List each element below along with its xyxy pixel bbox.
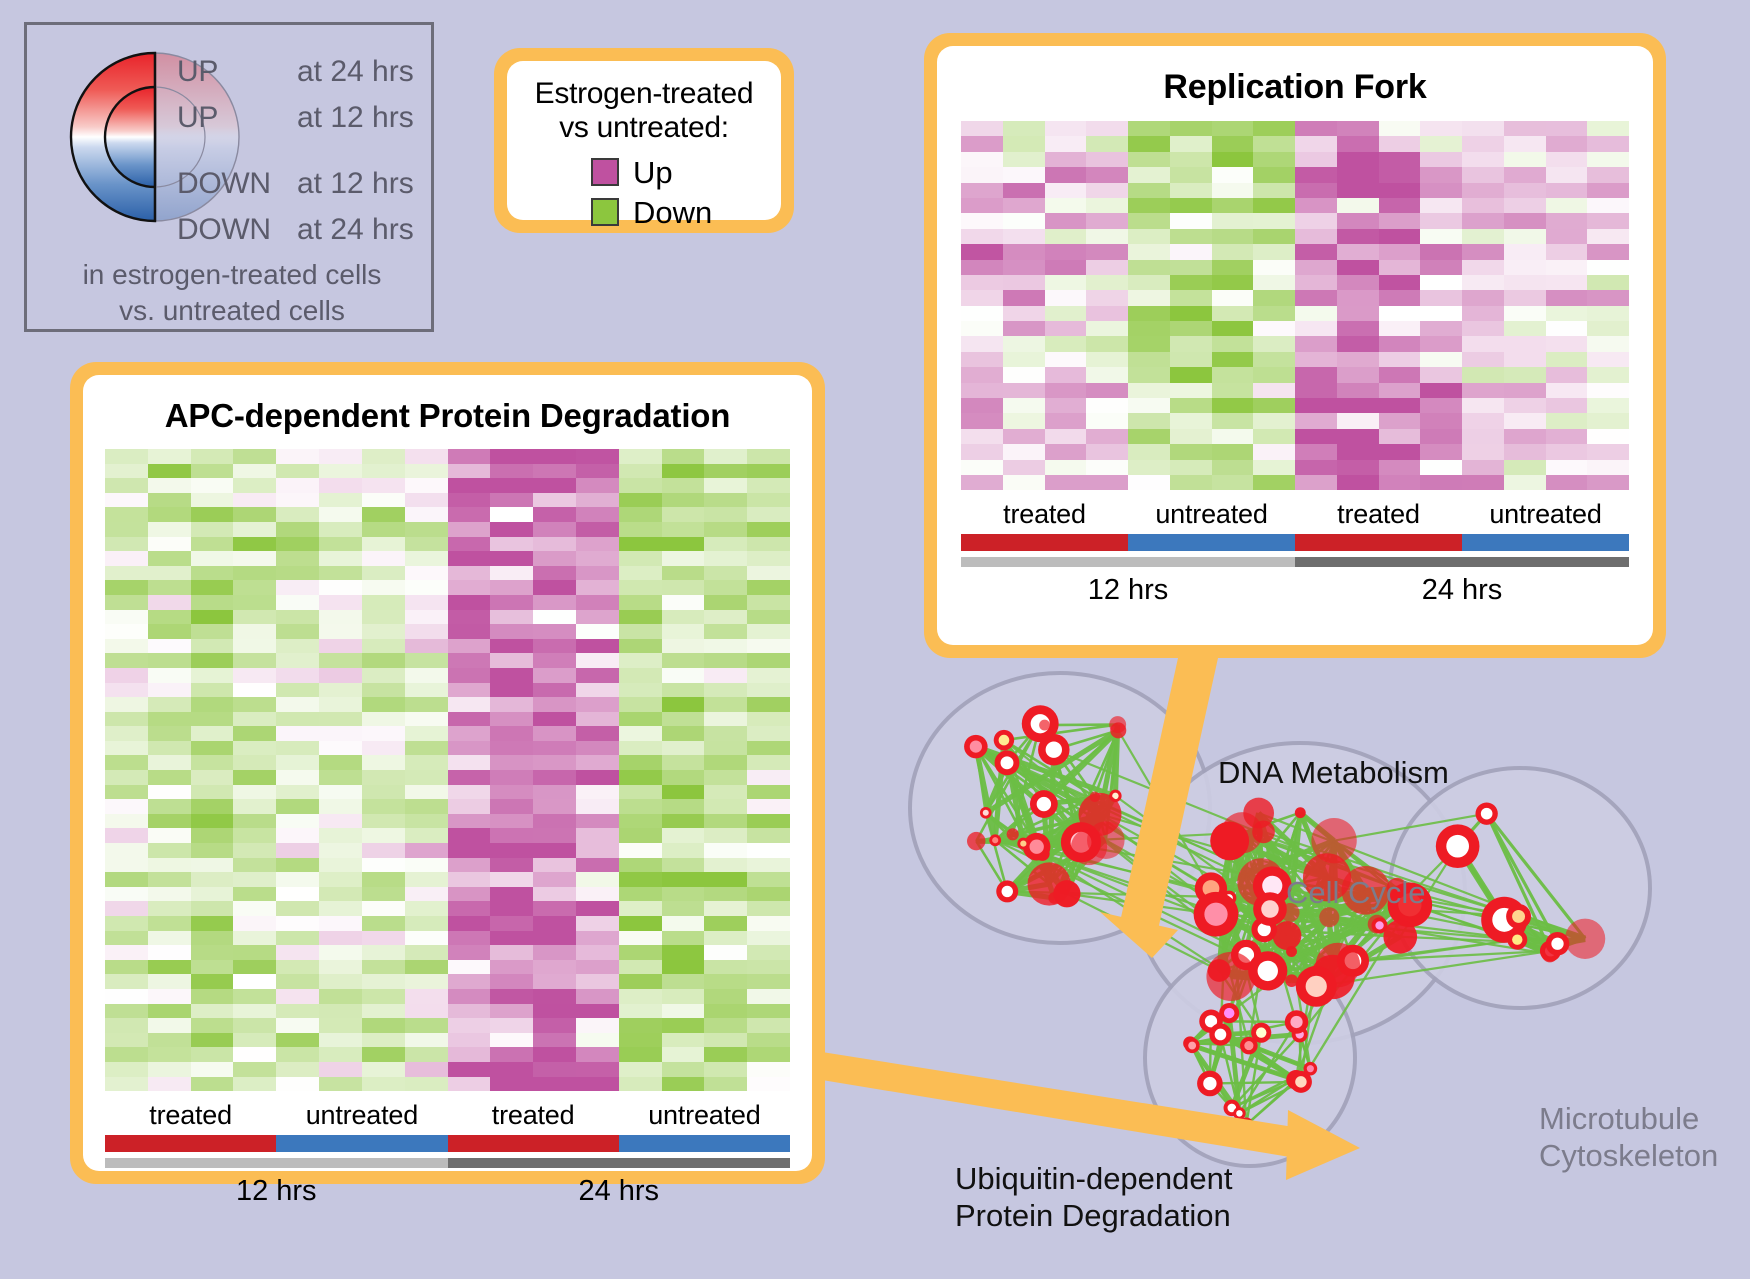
heatmap-cell (1379, 260, 1421, 275)
heatmap-cell (619, 580, 662, 595)
heatmap-cell (191, 624, 234, 639)
heatmap-cell (362, 464, 405, 479)
heatmap-cell (1003, 275, 1045, 290)
heatmap-cell (704, 507, 747, 522)
heatmap-cell (1587, 352, 1629, 367)
heatmap-cell (747, 741, 790, 756)
heatmap-cell (533, 974, 576, 989)
network-node (1206, 952, 1255, 1001)
heatmap-cell (1379, 367, 1421, 382)
heatmap-cell (747, 610, 790, 625)
heatmap-cell (662, 595, 705, 610)
heatmap-cell (1337, 306, 1379, 321)
colorwheel-rows: UP at 24 hrs UP at 12 hrs DOWN at 12 hrs… (177, 55, 437, 259)
heatmap-cell (1462, 260, 1504, 275)
heatmap-cell (276, 843, 319, 858)
heatmap-cell (1546, 398, 1588, 413)
heatmap-cell (405, 580, 448, 595)
heatmap-cell (1379, 198, 1421, 213)
heatmap-cell (448, 522, 491, 537)
heatmap-cell (576, 974, 619, 989)
heatmap-cell (233, 858, 276, 873)
heatmap-cell (747, 1077, 790, 1092)
heatmap-cell (191, 537, 234, 552)
heatmap-cell (448, 449, 491, 464)
heatmap-cell (1546, 167, 1588, 182)
heatmap-cell (576, 814, 619, 829)
heatmap-cell (405, 1018, 448, 1033)
heatmap-cell (1504, 229, 1546, 244)
heatmap-cell (276, 974, 319, 989)
heatmap-cell (1504, 321, 1546, 336)
heatmap-cell (704, 960, 747, 975)
heatmap-cell (619, 551, 662, 566)
heatmap-cell (448, 916, 491, 931)
heatmap-cell (1295, 367, 1337, 382)
heatmap-cell (405, 639, 448, 654)
heatmap-cell (1379, 244, 1421, 259)
heatmap-cell (405, 610, 448, 625)
heatmap-cell (319, 843, 362, 858)
heatmap-cell (1253, 260, 1295, 275)
heatmap-cell (362, 989, 405, 1004)
heatmap-cell (1045, 198, 1087, 213)
heatmap-cell (747, 785, 790, 800)
heatmap-cell (961, 367, 1003, 382)
heatmap-cell (576, 916, 619, 931)
heatmap-cell (576, 1018, 619, 1033)
heatmap-cell (233, 726, 276, 741)
axis-group-label: untreated (619, 1100, 790, 1131)
heatmap-cell (1170, 429, 1212, 444)
heatmap-cell (105, 712, 148, 727)
heatmap-cell (276, 449, 319, 464)
heatmap-cell (1462, 367, 1504, 382)
heatmap-cell (1379, 475, 1421, 490)
heatmap-cell (1420, 136, 1462, 151)
heatmap-cell (619, 785, 662, 800)
heatmap-cell (191, 507, 234, 522)
heatmap-cell (747, 551, 790, 566)
heatmap-cell (619, 872, 662, 887)
heatmap-cell (276, 478, 319, 493)
heatmap-cell (490, 566, 533, 581)
heatmap-cell (1212, 152, 1254, 167)
heatmap-cell (1295, 475, 1337, 490)
heatmap-cell (490, 843, 533, 858)
heatmap-cell (405, 741, 448, 756)
heatmap-cell (1420, 306, 1462, 321)
heatmap-cell (1337, 136, 1379, 151)
heatmap-cell (747, 989, 790, 1004)
heatmap-cell (576, 828, 619, 843)
heatmap-cell (576, 901, 619, 916)
heatmap-cell (233, 595, 276, 610)
heatmap-cell (362, 551, 405, 566)
heatmap-cell (1253, 398, 1295, 413)
heatmap-cell (619, 712, 662, 727)
heatmap-cell (1462, 121, 1504, 136)
colorwheel-key: UP (177, 101, 297, 135)
heatmap-cell (105, 551, 148, 566)
timepoint-bar-segment (1295, 557, 1629, 567)
axis-group-label: treated (448, 1100, 619, 1131)
heatmap-cell (619, 916, 662, 931)
heatmap-cell (533, 755, 576, 770)
heatmap-cell (490, 697, 533, 712)
heatmap-cell (233, 960, 276, 975)
heatmap-cell (704, 726, 747, 741)
heatmap-cell (105, 1047, 148, 1062)
network-node-core (1295, 1076, 1306, 1087)
heatmap-cell (1170, 475, 1212, 490)
heatmap-cell (961, 244, 1003, 259)
heatmap-cell (961, 413, 1003, 428)
heatmap-cell (105, 1004, 148, 1019)
heatmap-cell (1504, 167, 1546, 182)
heatmap-cell (319, 683, 362, 698)
heatmap-cell (1337, 290, 1379, 305)
heatmap-cell (276, 1018, 319, 1033)
heatmap-cell (148, 960, 191, 975)
heatmap-cell (1420, 383, 1462, 398)
heatmap-cell (1253, 321, 1295, 336)
network-node-core (1512, 910, 1525, 923)
heatmap-cell (362, 522, 405, 537)
heatmap-cell (747, 478, 790, 493)
timepoint-color-bar (961, 557, 1629, 567)
heatmap-cell (191, 916, 234, 931)
heatmap-cell (1045, 429, 1087, 444)
heatmap-cell (533, 1018, 576, 1033)
heatmap-cell (619, 522, 662, 537)
heatmap-cell (533, 770, 576, 785)
heatmap-cell (448, 770, 491, 785)
heatmap-cell (319, 478, 362, 493)
heatmap-cell (576, 1004, 619, 1019)
heatmap-cell (105, 653, 148, 668)
heatmap-cell (1253, 336, 1295, 351)
heatmap-cell (1462, 321, 1504, 336)
heatmap-cell (1086, 352, 1128, 367)
heatmap-cell (1462, 352, 1504, 367)
heatmap-cell (105, 580, 148, 595)
heatmap-cell (448, 726, 491, 741)
heatmap-cell (1170, 136, 1212, 151)
time-label: 24 hrs (1295, 574, 1629, 607)
heatmap-cell (747, 668, 790, 683)
heatmap-cell (704, 945, 747, 960)
cluster-label-microtubule: Microtubule Cytoskeleton (1539, 1100, 1718, 1174)
heatmap-cell (662, 887, 705, 902)
heatmap-cell (105, 639, 148, 654)
heatmap-cell (191, 726, 234, 741)
heatmap-cell (319, 595, 362, 610)
panel-replication-fork: Replication Fork treated untreated treat… (924, 33, 1666, 658)
heatmap-cell (405, 712, 448, 727)
heatmap-cell (276, 464, 319, 479)
heatmap-cell (662, 1062, 705, 1077)
heatmap-cell (405, 653, 448, 668)
heatmap-cell (191, 858, 234, 873)
heatmap-cell (619, 464, 662, 479)
heatmap-cell (961, 290, 1003, 305)
heatmap-cell (191, 668, 234, 683)
heatmap-cell (1546, 475, 1588, 490)
heatmap-cell (1504, 275, 1546, 290)
heatmap-cell (405, 755, 448, 770)
heatmap-cell (961, 321, 1003, 336)
heatmap-cell (619, 989, 662, 1004)
heatmap-cell (1587, 383, 1629, 398)
heatmap-cell (1504, 444, 1546, 459)
heatmap-axis-apc: treated untreated treated untreated 12 h… (105, 1100, 790, 1208)
heatmap-cell (233, 478, 276, 493)
heatmap-cell (961, 213, 1003, 228)
heatmap-cell (490, 478, 533, 493)
heatmap-cell (448, 755, 491, 770)
heatmap-cell (576, 989, 619, 1004)
heatmap-cell (1420, 336, 1462, 351)
network-node-core (1046, 742, 1062, 758)
heatmap-cell (233, 697, 276, 712)
heatmap-cell (662, 945, 705, 960)
heatmap-cell (148, 551, 191, 566)
heatmap-cell (405, 1033, 448, 1048)
heatmap-cell (704, 799, 747, 814)
heatmap-cell (1337, 198, 1379, 213)
heatmap-cell (747, 1047, 790, 1062)
heatmap-cell (1587, 167, 1629, 182)
heatmap-cell (362, 741, 405, 756)
heatmap-cell (533, 493, 576, 508)
heatmap-cell (405, 770, 448, 785)
heatmap-cell (1462, 167, 1504, 182)
heatmap-cell (533, 449, 576, 464)
heatmap-cell (533, 945, 576, 960)
down-swatch-icon (591, 198, 619, 226)
heatmap-cell (490, 537, 533, 552)
heatmap-cell (1420, 321, 1462, 336)
heatmap-cell (105, 449, 148, 464)
heatmap-cell (362, 916, 405, 931)
heatmap-cell (1045, 306, 1087, 321)
network-node (1210, 821, 1249, 860)
heatmap-cell (490, 551, 533, 566)
heatmap-cell (1420, 352, 1462, 367)
heatmap-cell (319, 449, 362, 464)
network-node-core (1258, 961, 1278, 981)
heatmap-cell (233, 1077, 276, 1092)
heatmap-cell (1420, 275, 1462, 290)
network-node (1383, 920, 1417, 954)
heatmap-cell (1337, 121, 1379, 136)
heatmap-cell (233, 507, 276, 522)
heatmap-cell (1337, 398, 1379, 413)
heatmap-cell (619, 537, 662, 552)
heatmap-cell (576, 668, 619, 683)
heatmap-cell (747, 537, 790, 552)
heatmap-cell (1587, 183, 1629, 198)
heatmap-cell (747, 974, 790, 989)
heatmap-cell (1170, 260, 1212, 275)
heatmap-cell (105, 872, 148, 887)
heatmap-cell (319, 770, 362, 785)
heatmap-cell (405, 595, 448, 610)
heatmap-cell (405, 843, 448, 858)
heatmap-cell (1253, 352, 1295, 367)
heatmap-cell (1587, 367, 1629, 382)
heatmap-cell (191, 828, 234, 843)
network-node-core (1375, 921, 1383, 929)
heatmap-cell (448, 697, 491, 712)
heatmap-cell (576, 712, 619, 727)
network-node-core (1481, 808, 1493, 820)
heatmap-cell (1128, 152, 1170, 167)
heatmap-cell (704, 858, 747, 873)
axis-group-label: treated (105, 1100, 276, 1131)
heatmap-cell (1170, 229, 1212, 244)
heatmap-cell (704, 1047, 747, 1062)
heatmap-cell (233, 1033, 276, 1048)
heatmap-cell (533, 726, 576, 741)
heatmap-cell (233, 989, 276, 1004)
heatmap-cell (1379, 213, 1421, 228)
heatmap-cell (619, 726, 662, 741)
heatmap-cell (490, 522, 533, 537)
heatmap-cell (276, 580, 319, 595)
heatmap-cell (362, 1033, 405, 1048)
heatmap-cell (490, 1062, 533, 1077)
heatmap-cell (619, 901, 662, 916)
heatmap-cell (233, 974, 276, 989)
heatmap-cell (747, 566, 790, 581)
heatmap-cell (1546, 413, 1588, 428)
heatmap-cell (1587, 121, 1629, 136)
heatmap-cell (362, 493, 405, 508)
heatmap-cell (105, 624, 148, 639)
heatmap-cell (105, 887, 148, 902)
heatmap-cell (1546, 260, 1588, 275)
heatmap-cell (1462, 460, 1504, 475)
heatmap-cell (1128, 198, 1170, 213)
heatmap-cell (533, 595, 576, 610)
heatmap-cell (1546, 429, 1588, 444)
time-label: 24 hrs (448, 1175, 791, 1208)
heatmap-cell (1420, 121, 1462, 136)
heatmap-cell (1128, 213, 1170, 228)
heatmap-cell (1212, 244, 1254, 259)
heatmap-cell (1337, 444, 1379, 459)
heatmap-cell (662, 507, 705, 522)
heatmap-cell (1128, 444, 1170, 459)
heatmap-cell (276, 1033, 319, 1048)
heatmap-cell (662, 901, 705, 916)
heatmap-cell (276, 712, 319, 727)
heatmap-cell (362, 726, 405, 741)
heatmap-cell (1086, 275, 1128, 290)
heatmap-cell (1128, 413, 1170, 428)
heatmap-cell (1295, 429, 1337, 444)
heatmap-cell (148, 755, 191, 770)
heatmap-cell (1462, 198, 1504, 213)
heatmap-cell (1295, 413, 1337, 428)
heatmap-cell (1170, 121, 1212, 136)
heatmap-cell (148, 858, 191, 873)
heatmap-cell (276, 989, 319, 1004)
heatmap-cell (704, 872, 747, 887)
heatmap-cell (662, 814, 705, 829)
heatmap-cell (1003, 444, 1045, 459)
heatmap-cell (276, 916, 319, 931)
heatmap-cell (233, 522, 276, 537)
heatmap-cell (490, 989, 533, 1004)
heatmap-cell (233, 683, 276, 698)
heatmap-cell (1504, 460, 1546, 475)
heatmap-cell (233, 653, 276, 668)
heatmap-cell (704, 493, 747, 508)
heatmap-cell (533, 1077, 576, 1092)
heatmap-cell (1462, 152, 1504, 167)
heatmap-cell (105, 697, 148, 712)
heatmap-cell (1587, 413, 1629, 428)
heatmap-cell (1546, 152, 1588, 167)
heatmap-cell (1420, 213, 1462, 228)
heatmap-cell (619, 1004, 662, 1019)
heatmap-cell (1086, 183, 1128, 198)
heatmap-cell (1295, 275, 1337, 290)
heatmap-cell (191, 551, 234, 566)
heatmap-cell (490, 960, 533, 975)
heatmap-cell (276, 785, 319, 800)
heatmap-cell (1295, 152, 1337, 167)
heatmap-cell (619, 1033, 662, 1048)
heatmap-cell (405, 799, 448, 814)
heatmap-cell (148, 828, 191, 843)
heatmap-cell (619, 945, 662, 960)
heatmap-cell (362, 1062, 405, 1077)
heatmap-cell (619, 814, 662, 829)
heatmap-cell (747, 1004, 790, 1019)
heatmap-cell (319, 814, 362, 829)
heatmap-cell (1420, 198, 1462, 213)
heatmap-cell (961, 136, 1003, 151)
heatmap-cell (233, 799, 276, 814)
heatmap-cell (448, 1018, 491, 1033)
network-node-core (1244, 1041, 1253, 1050)
heatmap-cell (1045, 275, 1087, 290)
heatmap-cell (1420, 183, 1462, 198)
heatmap-cell (704, 843, 747, 858)
heatmap-cell (747, 887, 790, 902)
heatmap-cell (662, 770, 705, 785)
heatmap-cell (961, 460, 1003, 475)
heatmap-cell (1295, 352, 1337, 367)
heatmap-cell (1587, 136, 1629, 151)
heatmap-cell (662, 566, 705, 581)
heatmap-cell (1045, 290, 1087, 305)
heatmap-cell (276, 799, 319, 814)
heatmap-cell (448, 493, 491, 508)
heatmap-cell (148, 1004, 191, 1019)
heatmap-cell (1170, 321, 1212, 336)
heatmap-cell (662, 741, 705, 756)
heatmap-cell (1128, 244, 1170, 259)
heatmap-cell (319, 828, 362, 843)
cluster-label-dna-metabolism: DNA Metabolism (1218, 755, 1449, 791)
heatmap-cell (576, 449, 619, 464)
heatmap-cell (704, 683, 747, 698)
